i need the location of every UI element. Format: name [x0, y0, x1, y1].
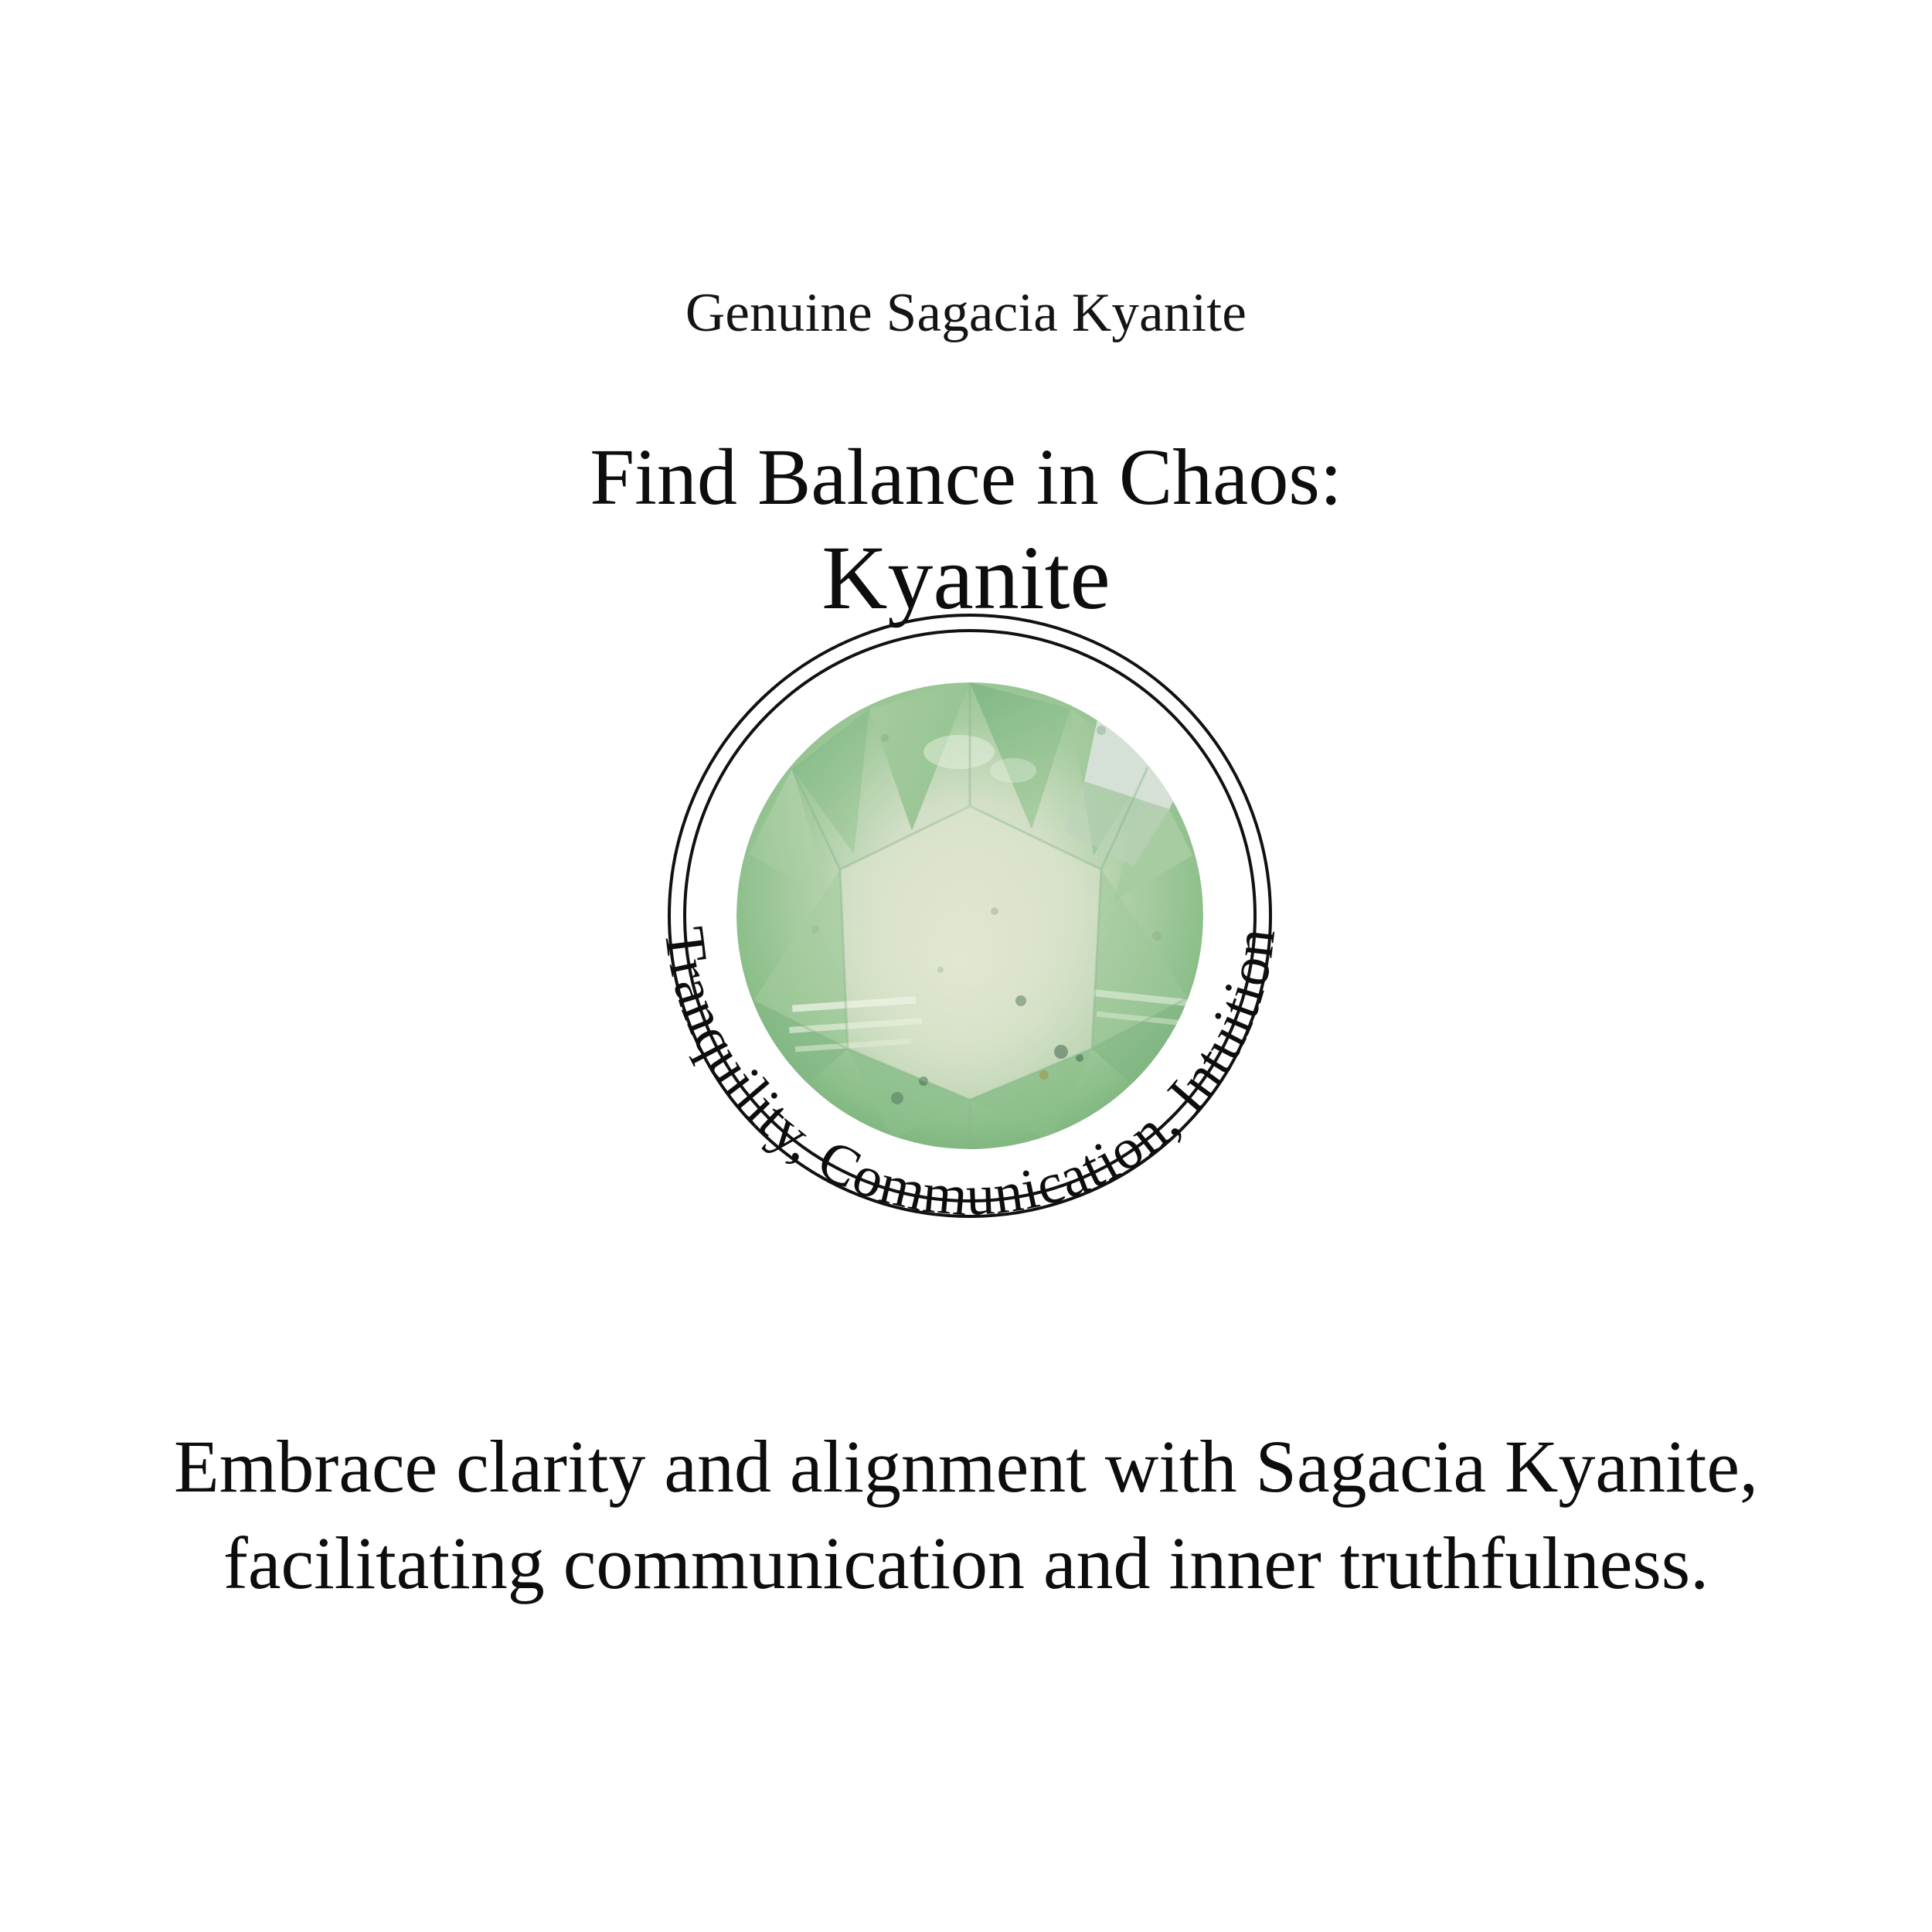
product-card-canvas: Genuine Sagacia Kyanite Find Balance in …: [0, 0, 1932, 1932]
product-description: Embrace clarity and alignment with Sagac…: [147, 1419, 1785, 1612]
gemstone-emblem: Tranquility, Communication, Intuition: [560, 506, 1379, 1325]
brand-eyebrow-label: Genuine Sagacia Kyanite: [0, 284, 1932, 342]
